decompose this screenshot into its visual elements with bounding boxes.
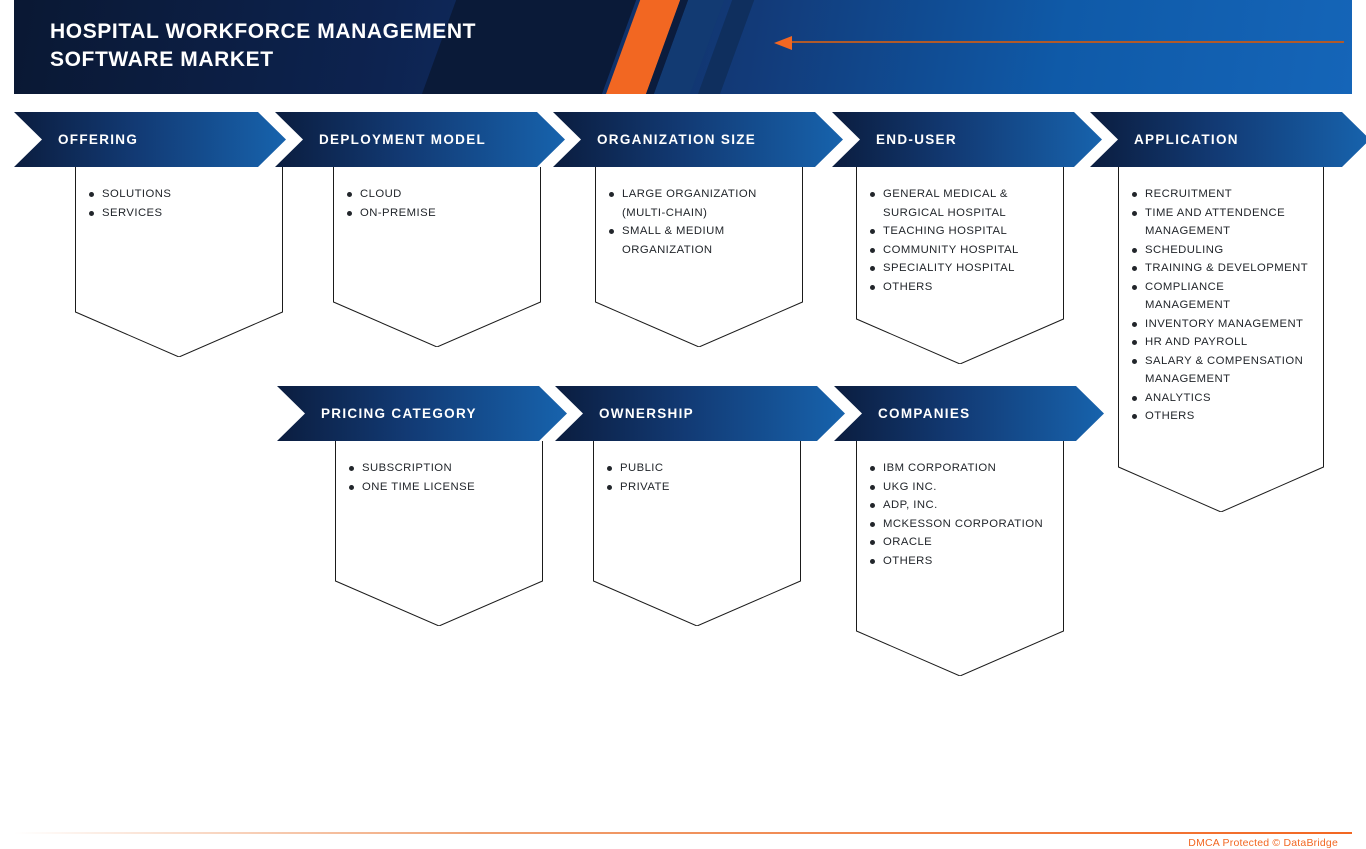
list-item-label: TEACHING HOSPITAL (883, 222, 1050, 241)
bullet-icon (349, 466, 354, 471)
footer-divider (14, 832, 1352, 834)
list-item-label: CLOUD (360, 185, 527, 204)
segment-banner-pricing-category: PRICING CATEGORY (277, 386, 567, 441)
bullet-icon (349, 485, 354, 490)
bullet-icon (870, 229, 875, 234)
header-arrow-icon (774, 36, 1344, 48)
list-item-label: SUBSCRIPTION (362, 459, 529, 478)
list-item: PUBLIC (607, 459, 787, 478)
list-item-label: UKG INC. (883, 478, 1050, 497)
segment-list-ownership: PUBLICPRIVATE (593, 441, 801, 496)
segment-card-companies: IBM CORPORATIONUKG INC.ADP, INC.MCKESSON… (856, 441, 1064, 676)
bullet-icon (347, 192, 352, 197)
list-item: INVENTORY MANAGEMENT (1132, 315, 1310, 334)
list-item-label: ONE TIME LICENSE (362, 478, 529, 497)
list-item: PRIVATE (607, 478, 787, 497)
list-item-label: TRAINING & DEVELOPMENT (1145, 259, 1310, 278)
segment-title-deployment-model: DEPLOYMENT MODEL (319, 132, 486, 147)
bullet-icon (347, 211, 352, 216)
segment-list-application: RECRUITMENTTIME AND ATTENDENCE MANAGEMEN… (1118, 167, 1324, 426)
bullet-icon (1132, 359, 1137, 364)
list-item-label: SERVICES (102, 204, 269, 223)
list-item-label: SMALL & MEDIUM ORGANIZATION (622, 222, 789, 259)
segment-title-companies: COMPANIES (878, 406, 970, 421)
segment-list-companies: IBM CORPORATIONUKG INC.ADP, INC.MCKESSON… (856, 441, 1064, 570)
list-item-label: IBM CORPORATION (883, 459, 1050, 478)
list-item: SMALL & MEDIUM ORGANIZATION (609, 222, 789, 259)
list-item-label: SPECIALITY HOSPITAL (883, 259, 1050, 278)
list-item: SOLUTIONS (89, 185, 269, 204)
bullet-icon (1132, 211, 1137, 216)
list-item: SERVICES (89, 204, 269, 223)
list-item-label: INVENTORY MANAGEMENT (1145, 315, 1310, 334)
bullet-icon (1132, 322, 1137, 327)
bullet-icon (89, 211, 94, 216)
segment-card-application: RECRUITMENTTIME AND ATTENDENCE MANAGEMEN… (1118, 167, 1324, 512)
segment-card-deployment-model: CLOUDON-PREMISE (333, 167, 541, 347)
bullet-icon (1132, 340, 1137, 345)
list-item-label: OTHERS (883, 552, 1050, 571)
page-title: HOSPITAL WORKFORCE MANAGEMENT SOFTWARE M… (50, 18, 476, 74)
list-item-label: COMMUNITY HOSPITAL (883, 241, 1050, 260)
list-item-label: OTHERS (1145, 407, 1310, 426)
list-item-label: ANALYTICS (1145, 389, 1310, 408)
list-item: TIME AND ATTENDENCE MANAGEMENT (1132, 204, 1310, 241)
bullet-icon (870, 540, 875, 545)
list-item: TEACHING HOSPITAL (870, 222, 1050, 241)
bullet-icon (607, 485, 612, 490)
list-item: SALARY & COMPENSATION MANAGEMENT (1132, 352, 1310, 389)
list-item: OTHERS (870, 552, 1050, 571)
list-item-label: MCKESSON CORPORATION (883, 515, 1050, 534)
list-item-label: RECRUITMENT (1145, 185, 1310, 204)
list-item: MCKESSON CORPORATION (870, 515, 1050, 534)
bullet-icon (607, 466, 612, 471)
list-item-label: HR AND PAYROLL (1145, 333, 1310, 352)
segment-banner-organization-size: ORGANIZATION SIZE (553, 112, 843, 167)
segment-title-organization-size: ORGANIZATION SIZE (597, 132, 756, 147)
list-item-label: LARGE ORGANIZATION (MULTI-CHAIN) (622, 185, 789, 222)
segment-list-offering: SOLUTIONSSERVICES (75, 167, 283, 222)
segment-banner-ownership: OWNERSHIP (555, 386, 845, 441)
bullet-icon (1132, 248, 1137, 253)
segment-title-application: APPLICATION (1134, 132, 1239, 147)
segment-banner-offering: OFFERING (14, 112, 286, 167)
list-item-label: TIME AND ATTENDENCE MANAGEMENT (1145, 204, 1310, 241)
list-item: LARGE ORGANIZATION (MULTI-CHAIN) (609, 185, 789, 222)
list-item: UKG INC. (870, 478, 1050, 497)
segment-card-end-user: GENERAL MEDICAL & SURGICAL HOSPITALTEACH… (856, 167, 1064, 364)
list-item: RECRUITMENT (1132, 185, 1310, 204)
bullet-icon (1132, 285, 1137, 290)
list-item: ON-PREMISE (347, 204, 527, 223)
list-item: GENERAL MEDICAL & SURGICAL HOSPITAL (870, 185, 1050, 222)
list-item: COMPLIANCE MANAGEMENT (1132, 278, 1310, 315)
segment-list-deployment-model: CLOUDON-PREMISE (333, 167, 541, 222)
list-item: OTHERS (870, 278, 1050, 297)
bullet-icon (870, 522, 875, 527)
bullet-icon (1132, 396, 1137, 401)
list-item-label: SALARY & COMPENSATION MANAGEMENT (1145, 352, 1310, 389)
left-margin (0, 0, 14, 848)
bullet-icon (870, 466, 875, 471)
bullet-icon (870, 559, 875, 564)
segment-banner-end-user: END-USER (832, 112, 1102, 167)
list-item: TRAINING & DEVELOPMENT (1132, 259, 1310, 278)
bullet-icon (609, 229, 614, 234)
list-item: OTHERS (1132, 407, 1310, 426)
list-item-label: SOLUTIONS (102, 185, 269, 204)
list-item-label: OTHERS (883, 278, 1050, 297)
segment-title-end-user: END-USER (876, 132, 957, 147)
segment-card-ownership: PUBLICPRIVATE (593, 441, 801, 626)
list-item-label: PRIVATE (620, 478, 787, 497)
list-item: ADP, INC. (870, 496, 1050, 515)
segment-banner-deployment-model: DEPLOYMENT MODEL (275, 112, 565, 167)
segment-list-organization-size: LARGE ORGANIZATION (MULTI-CHAIN)SMALL & … (595, 167, 803, 259)
list-item: SCHEDULING (1132, 241, 1310, 260)
list-item-label: GENERAL MEDICAL & SURGICAL HOSPITAL (883, 185, 1050, 222)
bullet-icon (870, 266, 875, 271)
page-header: HOSPITAL WORKFORCE MANAGEMENT SOFTWARE M… (14, 0, 1352, 94)
segment-title-pricing-category: PRICING CATEGORY (321, 406, 477, 421)
bullet-icon (609, 192, 614, 197)
list-item-label: PUBLIC (620, 459, 787, 478)
list-item-label: SCHEDULING (1145, 241, 1310, 260)
segment-title-offering: OFFERING (58, 132, 138, 147)
list-item-label: ADP, INC. (883, 496, 1050, 515)
segment-list-pricing-category: SUBSCRIPTIONONE TIME LICENSE (335, 441, 543, 496)
list-item-label: COMPLIANCE MANAGEMENT (1145, 278, 1310, 315)
list-item-label: ORACLE (883, 533, 1050, 552)
bullet-icon (870, 285, 875, 290)
bullet-icon (1132, 266, 1137, 271)
bullet-icon (1132, 414, 1137, 419)
list-item-label: ON-PREMISE (360, 204, 527, 223)
segment-card-organization-size: LARGE ORGANIZATION (MULTI-CHAIN)SMALL & … (595, 167, 803, 347)
list-item: SUBSCRIPTION (349, 459, 529, 478)
segment-card-pricing-category: SUBSCRIPTIONONE TIME LICENSE (335, 441, 543, 626)
segment-banner-companies: COMPANIES (834, 386, 1104, 441)
segment-card-offering: SOLUTIONSSERVICES (75, 167, 283, 357)
list-item: COMMUNITY HOSPITAL (870, 241, 1050, 260)
segment-title-ownership: OWNERSHIP (599, 406, 694, 421)
bullet-icon (870, 503, 875, 508)
list-item: ANALYTICS (1132, 389, 1310, 408)
bullet-icon (89, 192, 94, 197)
bullet-icon (870, 485, 875, 490)
bullet-icon (1132, 192, 1137, 197)
list-item: CLOUD (347, 185, 527, 204)
list-item: IBM CORPORATION (870, 459, 1050, 478)
list-item: HR AND PAYROLL (1132, 333, 1310, 352)
segment-list-end-user: GENERAL MEDICAL & SURGICAL HOSPITALTEACH… (856, 167, 1064, 296)
footer-copyright: DMCA Protected © DataBridge (1188, 837, 1338, 849)
list-item: ONE TIME LICENSE (349, 478, 529, 497)
list-item: ORACLE (870, 533, 1050, 552)
bullet-icon (870, 192, 875, 197)
segment-banner-application: APPLICATION (1090, 112, 1366, 167)
list-item: SPECIALITY HOSPITAL (870, 259, 1050, 278)
bullet-icon (870, 248, 875, 253)
